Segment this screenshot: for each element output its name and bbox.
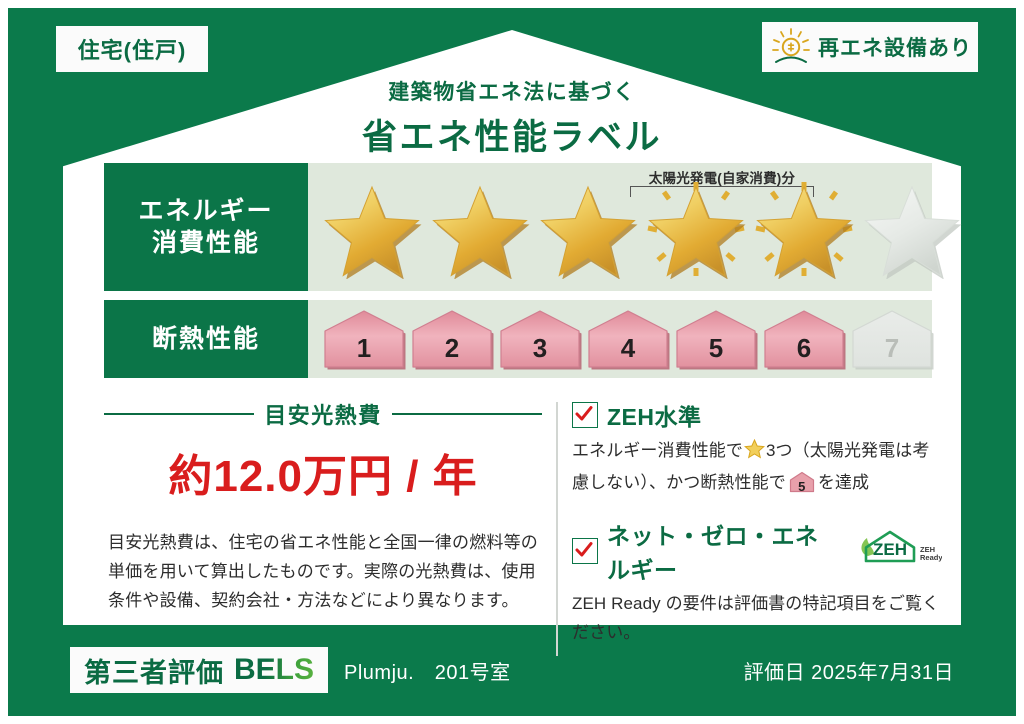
zeh-standard-title: ZEH水準 [607,398,702,432]
star-filled-icon [752,180,856,279]
zeh-desc-part3: を達成 [818,473,869,492]
utility-cost-section: 目安光熱費 約12.0万円 / 年 目安光熱費は、住宅の省エネ性能と全国一律の燃… [104,398,556,662]
checkbox-checked-icon [572,402,598,428]
insulation-level-number: 6 [762,333,846,364]
star-filled-icon [536,180,640,279]
inline-house-number: 5 [789,476,815,498]
zeh-item-standard: ZEH水準 エネルギー消費性能で3つ（太陽光発電は考慮しない）、かつ断熱性能で5… [572,398,942,503]
energy-performance-label: 住宅(住戸) [0,0,1024,724]
zeh-standard-header: ZEH水準 [572,398,942,432]
svg-text:ZEH: ZEH [873,540,907,559]
star-filled-icon [320,180,424,279]
utility-cost-heading-text: 目安光熱費 [264,398,382,430]
renewable-tag-label: 再エネ設備あり [818,32,972,62]
property-name: Plumju. 201号室 [344,656,511,685]
insulation-level-number: 2 [410,333,494,364]
zeh-net-zero-header: ネット・ゼロ・エネルギー ZEH ZEH Ready [572,517,942,585]
insulation-performance-row: 断熱性能 1234567 [104,300,932,378]
svg-text:Ready: Ready [920,553,942,562]
house-type-tag: 住宅(住戸) [56,26,208,72]
zeh-section: ZEH水準 エネルギー消費性能で3つ（太陽光発電は考慮しない）、かつ断熱性能で5… [572,398,942,662]
insulation-level-filled: 6 [762,309,846,370]
energy-label-line2: 消費性能 [152,227,260,259]
energy-label-line1: エネルギー [138,195,273,227]
insulation-level-filled: 3 [498,309,582,370]
zeh-net-zero-title: ネット・ゼロ・エネルギー [607,517,839,585]
energy-performance-row: エネルギー 消費性能 太陽光発電(自家消費)分 [104,163,932,291]
insulation-level-number: 5 [674,333,758,364]
house-type-tag-label: 住宅(住戸) [78,33,187,65]
star-filled-icon [644,180,748,279]
insulation-level-number: 4 [586,333,670,364]
checkbox-checked-icon [572,538,598,564]
zeh-desc-part1: エネルギー消費性能で [572,441,743,460]
insulation-level-number: 1 [322,333,406,364]
utility-cost-note: 目安光熱費は、住宅の省エネ性能と全国一律の燃料等の単価を用いて算出したものです。… [104,528,542,616]
renewable-energy-tag: 再エネ設備あり [762,22,978,72]
sun-solar-icon [768,26,814,68]
insulation-level-filled: 4 [586,309,670,370]
bels-wordmark: BELS [234,653,314,687]
label-footer: 第三者評価 BELS Plumju. 201号室 評価日 2025年7月31日 [8,624,1016,716]
utility-cost-value: 約12.0万円 / 年 [104,440,542,504]
star-rating [320,180,964,279]
section-divider [556,402,558,656]
insulation-level-number: 7 [850,333,934,364]
evaluation-date: 評価日 2025年7月31日 [744,656,954,685]
star-filled-icon [428,180,532,279]
insulation-level-filled: 5 [674,309,758,370]
bels-plate: 第三者評価 BELS [70,647,328,693]
insulation-level-number: 3 [498,333,582,364]
insulation-label-text: 断熱性能 [152,323,260,355]
title-subtitle: 建築物省エネ法に基づく [8,76,1016,106]
title-block: 建築物省エネ法に基づく 省エネ性能ラベル [8,76,1016,160]
lower-section: 目安光熱費 約12.0万円 / 年 目安光熱費は、住宅の省エネ性能と全国一律の燃… [104,398,942,662]
label-canvas: 住宅(住戸) [8,8,1016,716]
insulation-level-scale: 1234567 [322,309,934,370]
bels-prefix-label: 第三者評価 [84,651,224,690]
insulation-performance-label: 断熱性能 [104,300,308,378]
insulation-level-empty: 7 [850,309,934,370]
zeh-standard-description: エネルギー消費性能で3つ（太陽光発電は考慮しない）、かつ断熱性能で5を達成 [572,437,942,503]
star-icon [744,444,765,463]
insulation-level-filled: 2 [410,309,494,370]
utility-cost-heading: 目安光熱費 [104,398,542,430]
insulation-level-filled: 1 [322,309,406,370]
star-empty-icon [860,180,964,279]
energy-performance-label: エネルギー 消費性能 [104,163,308,291]
title-main: 省エネ性能ラベル [8,109,1016,160]
zeh-ready-logo: ZEH ZEH Ready [854,528,942,573]
insulation-level-inline-badge: 5 [789,471,815,503]
performance-panels: エネルギー 消費性能 太陽光発電(自家消費)分 断熱性能 1234567 [104,163,932,387]
energy-rating-area: 太陽光発電(自家消費)分 [308,163,932,291]
insulation-rating-area: 1234567 [308,300,932,378]
